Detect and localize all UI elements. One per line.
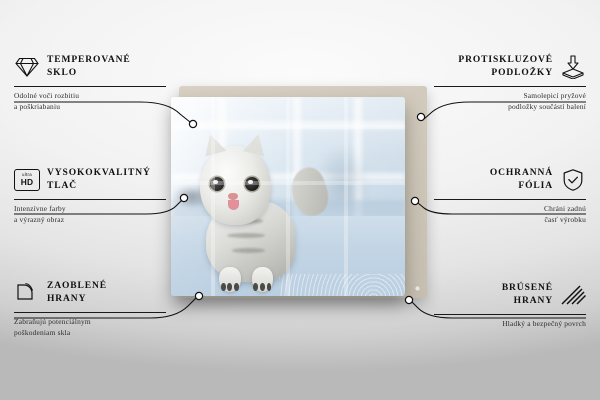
photo-scene — [171, 97, 405, 296]
divider — [14, 312, 166, 313]
board-printed-face — [171, 97, 405, 296]
feature-high-quality-print: ultra HD VYSOKOKVALITNÝ TLAČ Intenzívne … — [14, 165, 166, 225]
anti-slip-pad-icon — [560, 54, 586, 80]
infographic-canvas: TEMPEROVANÉ SKLO Odolné voči rozbitiu a … — [0, 0, 600, 400]
feature-rounded-edges: ZAOBLENÉ HRANY Zabraňujú potenciálnym po… — [14, 278, 166, 338]
kitten-eye-right — [245, 177, 259, 191]
kitten-head — [200, 146, 271, 226]
feature-header: ZAOBLENÉ HRANY — [14, 278, 166, 308]
feature-description: Hladký a bezpečný povrch — [434, 319, 586, 330]
window-mullion — [171, 121, 405, 129]
feature-title: TEMPEROVANÉ SKLO — [47, 54, 131, 79]
feature-protective-film: OCHRANNÁ FÓLIA Chráni zadnú časť výrobku — [434, 165, 586, 225]
kitten-ear-left — [199, 132, 226, 157]
feature-title: OCHRANNÁ FÓLIA — [490, 167, 553, 192]
brushed-edge-icon — [560, 282, 586, 308]
feature-title: PROTISKLUZOVÉ PODLOŽKY — [458, 54, 553, 79]
feature-header: ultra HD VYSOKOKVALITNÝ TLAČ — [14, 165, 166, 195]
feature-polished-edges: BRÚSENÉ HRANY Hladký a bezpečný povrch — [434, 280, 586, 330]
feature-title: BRÚSENÉ HRANY — [502, 282, 553, 307]
kitten-illustration — [192, 133, 328, 292]
kitten-ear-right — [242, 132, 268, 157]
kitten-eye-left — [210, 177, 224, 191]
ultra-hd-badge-icon: ultra HD — [14, 167, 40, 193]
kitten-tail — [286, 164, 334, 220]
feature-description: Zabraňujú potenciálnym poškodeniam skla — [14, 317, 166, 338]
feature-description: Chráni zadnú časť výrobku — [434, 204, 586, 225]
feature-header: OCHRANNÁ FÓLIA — [434, 165, 586, 195]
kitten-paw-left — [219, 267, 241, 292]
feature-title: ZAOBLENÉ HRANY — [47, 280, 107, 305]
kitten-tongue — [228, 200, 239, 210]
feature-tempered-glass: TEMPEROVANÉ SKLO Odolné voči rozbitiu a … — [14, 52, 166, 112]
diamond-icon — [14, 54, 40, 80]
kitten-paw-right — [252, 267, 274, 292]
feature-description: Odolné voči rozbitiu a poškriabaniu — [14, 91, 166, 112]
divider — [14, 86, 166, 87]
shield-check-icon — [560, 167, 586, 193]
divider — [434, 199, 586, 200]
feature-header: TEMPEROVANÉ SKLO — [14, 52, 166, 82]
feature-description: Samolepicí pryžové podložky součástí bal… — [434, 91, 586, 112]
feature-header: PROTISKLUZOVÉ PODLOŽKY — [434, 52, 586, 82]
feature-anti-slip-pads: PROTISKLUZOVÉ PODLOŽKY Samolepicí pryžov… — [434, 52, 586, 112]
kitten-nose — [228, 193, 237, 200]
feature-description: Intenzívne farby a výrazný obraz — [14, 204, 166, 225]
feature-title: VYSOKOKVALITNÝ TLAČ — [47, 167, 151, 192]
rounded-corner-icon — [14, 280, 40, 306]
divider — [434, 86, 586, 87]
divider — [14, 199, 166, 200]
divider — [434, 314, 586, 315]
feature-header: BRÚSENÉ HRANY — [434, 280, 586, 310]
product-image — [171, 86, 429, 312]
hd-label: HD — [21, 178, 34, 186]
